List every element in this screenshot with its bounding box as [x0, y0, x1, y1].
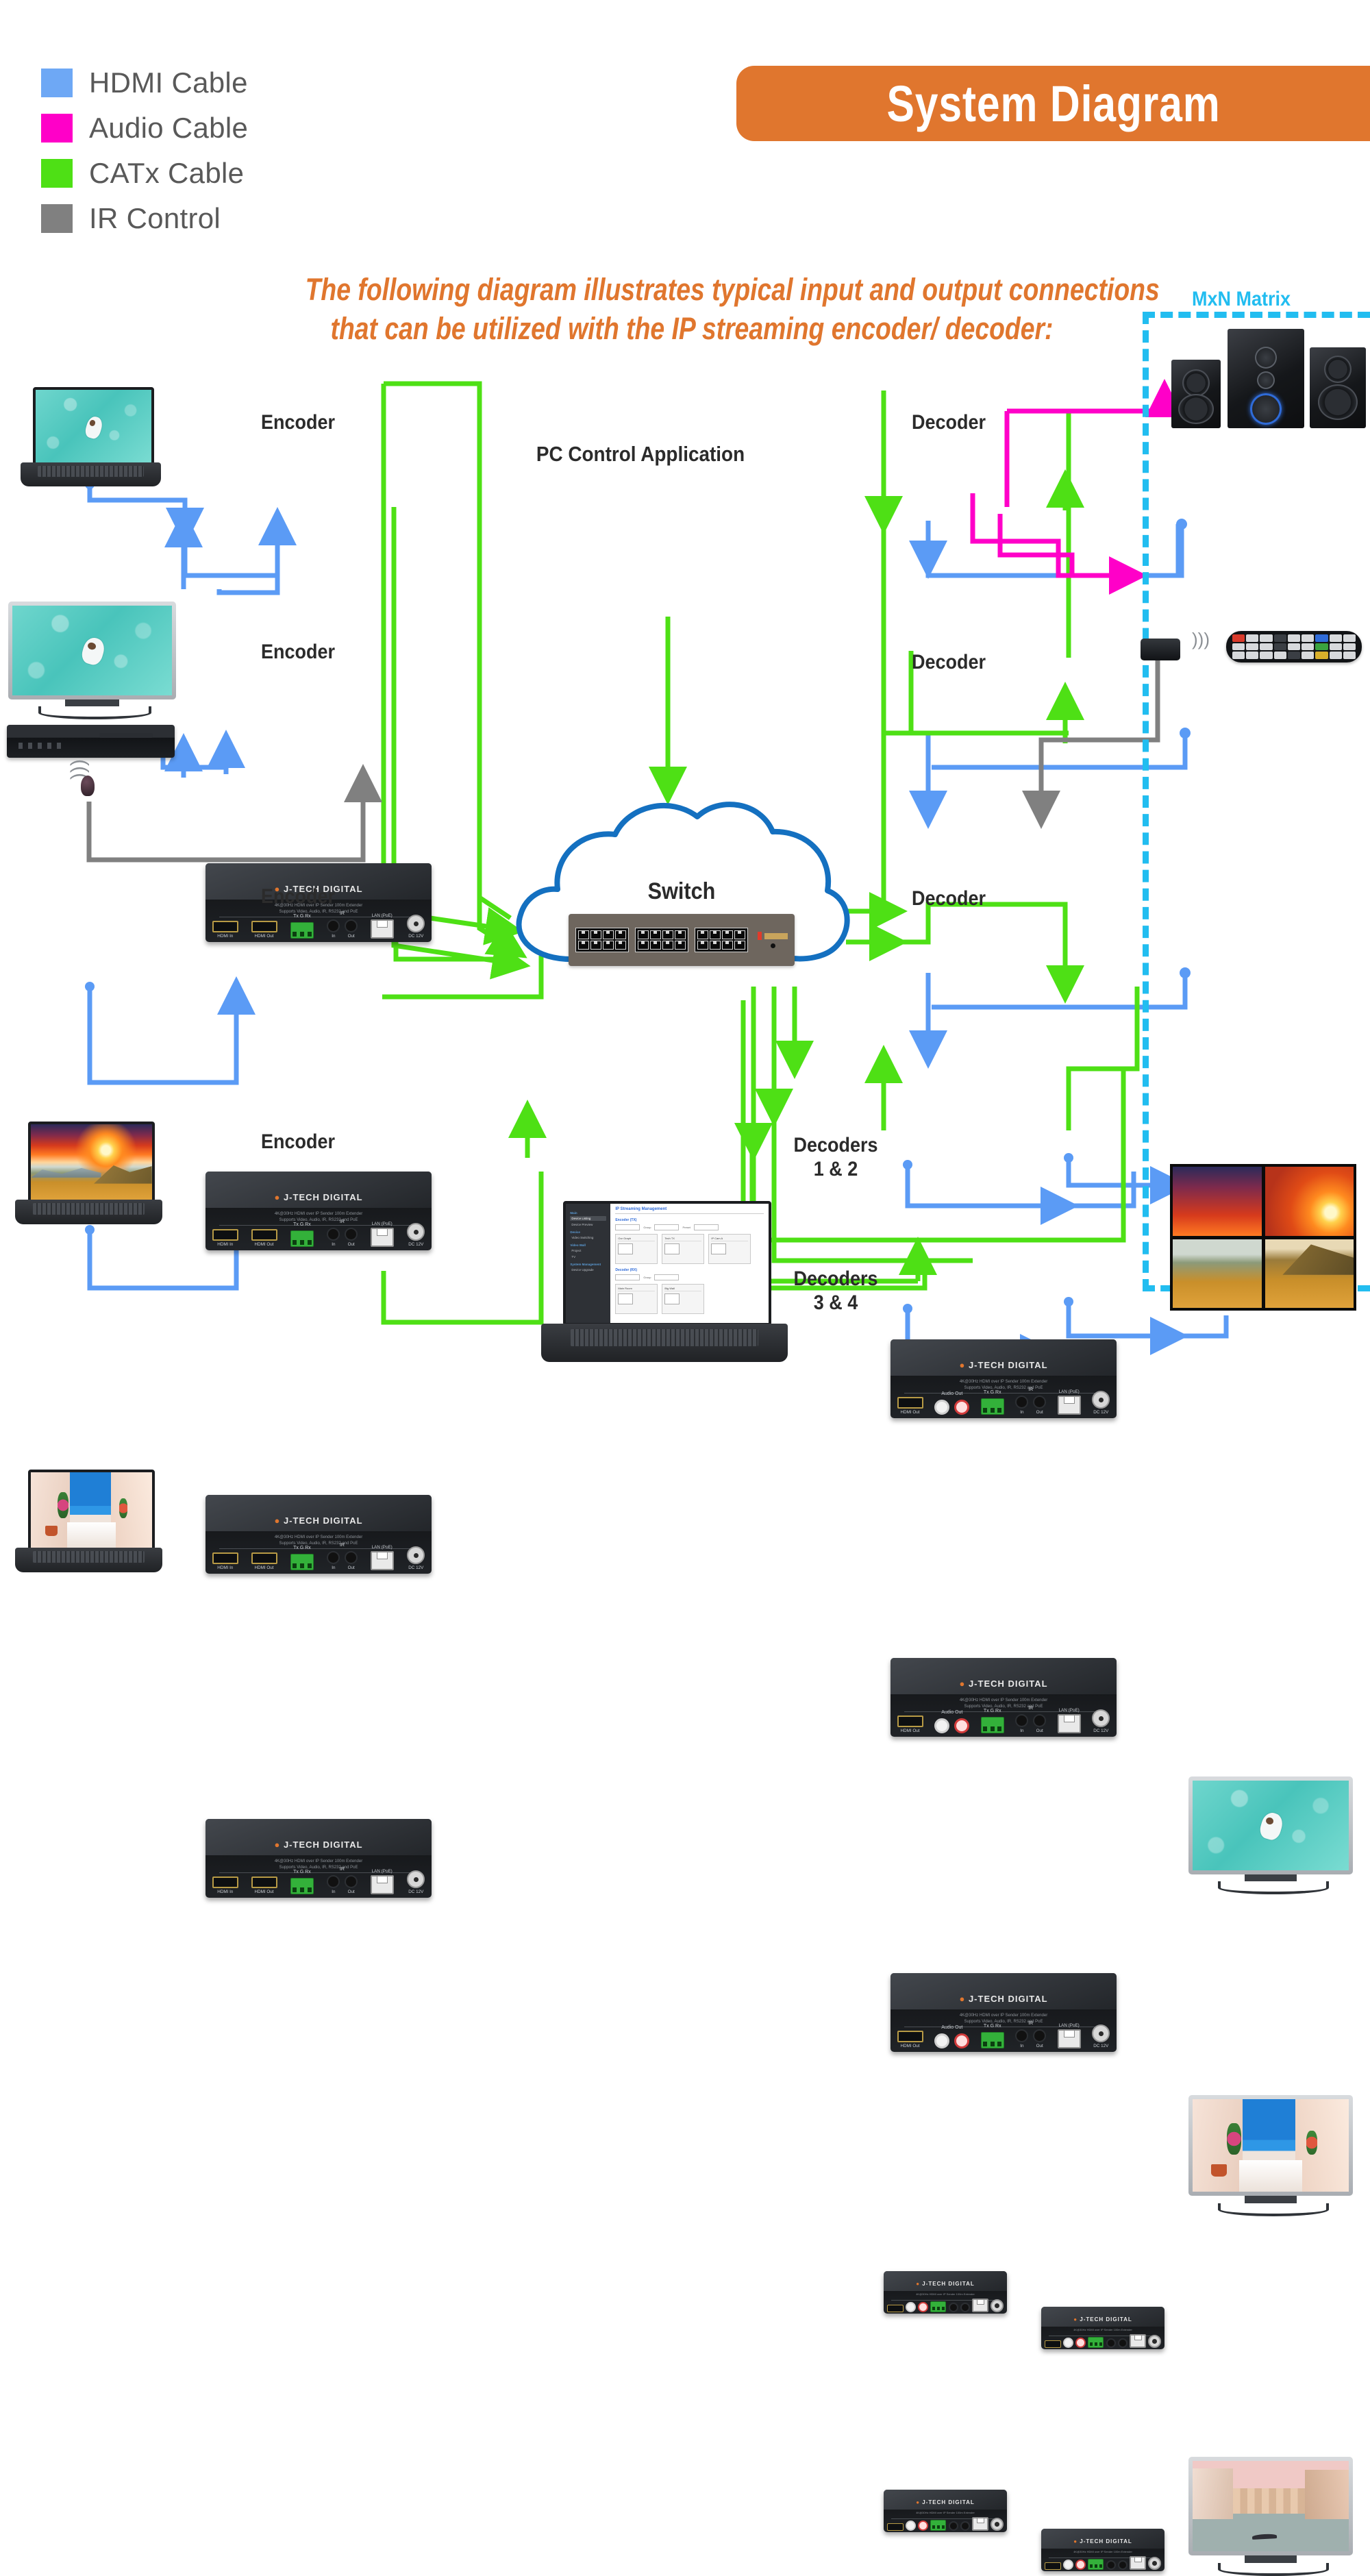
rca-right-jack-icon[interactable] — [918, 2302, 928, 2312]
card-thumbnail — [618, 1293, 633, 1304]
dc-jack-icon — [407, 1546, 425, 1564]
pc-control-laptop: Main Device Listing Device Preview Devic… — [541, 1201, 788, 1362]
hdmi-port-icon[interactable] — [1045, 2562, 1061, 2570]
sidebar-item-project[interactable]: Project — [570, 1248, 606, 1253]
network-switch[interactable] — [569, 914, 795, 966]
encoder-preset-select[interactable] — [694, 1224, 719, 1230]
power-knob-icon[interactable] — [1250, 393, 1282, 425]
port-ir-out[interactable]: Out — [345, 1228, 358, 1247]
sidebar-group-header-system: System Management — [570, 1263, 606, 1266]
tv-image-paddleboard — [1193, 1781, 1349, 1870]
terminal-block-icon — [290, 1554, 314, 1570]
brand-logo: ● J-TECH DIGITAL — [206, 1192, 432, 1202]
tv-image-venice — [1193, 2461, 1349, 2551]
laptop-2-screen — [28, 1122, 154, 1203]
ir-jack-icon[interactable] — [960, 2521, 970, 2531]
tv-1-foot — [38, 706, 151, 719]
dc-jack-icon — [407, 1870, 425, 1888]
brand-logo: ● J-TECH DIGITAL — [891, 1360, 1117, 1370]
source-tv-1 — [8, 602, 176, 718]
decoder-section: Decoder (RX) Group Main Room Big Wall — [615, 1268, 763, 1314]
ir-jack-icon[interactable] — [949, 2521, 958, 2531]
rj45-port-icon[interactable] — [1130, 2334, 1146, 2348]
brand-logo: ● J-TECH DIGITAL — [891, 1994, 1117, 2004]
dc-jack-icon[interactable] — [991, 2299, 1004, 2312]
port-hdmi-in[interactable]: HDMI In — [212, 1552, 238, 1570]
port-dc[interactable]: DC 12V — [1092, 2024, 1110, 2048]
rca-right-jack-icon[interactable] — [954, 1400, 969, 1415]
decoder-unit-4[interactable]: ● J-TECH DIGITAL 4K@30Hz HDMI over IP Se… — [1041, 2529, 1164, 2571]
subtitle-line-1: The following diagram illustrates typica… — [306, 271, 1079, 310]
ir-jack-icon — [345, 1875, 358, 1888]
encoder-search-input[interactable] — [615, 1224, 640, 1230]
hdmi-port-icon[interactable] — [887, 2523, 904, 2531]
switch-status-leds — [758, 932, 788, 948]
hdmi-port-icon — [251, 1877, 277, 1888]
pc-control-keyboard — [541, 1324, 788, 1362]
app-sidebar[interactable]: Main Device Listing Device Preview Devic… — [566, 1204, 610, 1323]
source-laptop-1 — [21, 387, 161, 486]
port-ir-out[interactable]: Out — [1033, 1396, 1046, 1415]
sidebar-group-header-videowall: Video Wall — [570, 1243, 606, 1247]
port-ir-group: IR In Out — [327, 919, 358, 939]
dc-jack-icon[interactable] — [1148, 2557, 1161, 2570]
port-ir-out[interactable]: Out — [345, 1551, 358, 1570]
legend: HDMI Cable Audio Cable CATx Cable IR Con… — [41, 60, 248, 241]
ir-jack-icon[interactable] — [1106, 2338, 1116, 2348]
sidebar-group-header-device: Device — [570, 1230, 606, 1234]
rj45-port-icon[interactable] — [972, 2517, 988, 2531]
encoder-card[interactable]: Our Graph — [615, 1234, 658, 1264]
port-dc[interactable]: DC 12V — [407, 1546, 425, 1570]
brand-logo: ● J-TECH DIGITAL — [1041, 2538, 1164, 2544]
encoder-preset-label: Preset — [682, 1226, 690, 1229]
card-thumbnail — [618, 1243, 633, 1254]
hdmi-port-icon — [251, 1552, 277, 1564]
port-hdmi-out[interactable]: HDMI Out — [251, 1877, 277, 1894]
source-bluray-player — [7, 725, 175, 758]
ir-emitter-icon — [81, 776, 95, 796]
legend-item-audio: Audio Cable — [41, 106, 248, 151]
encoder-card[interactable]: Tech TX — [662, 1234, 704, 1264]
legend-item-ir: IR Control — [41, 196, 248, 241]
ir-jack-icon — [1033, 1396, 1046, 1409]
tv-image-santorini — [1193, 2099, 1349, 2192]
encoder-2-label: Encoder — [246, 641, 351, 665]
switch-port-bank-1[interactable] — [575, 928, 629, 952]
rca-left-jack-icon[interactable] — [906, 2302, 916, 2312]
catx-color-swatch-icon — [41, 159, 73, 188]
sidebar-item-device-listing[interactable]: Device Listing — [570, 1216, 606, 1221]
legend-label-audio: Audio Cable — [89, 112, 248, 145]
sidebar-item-tv[interactable]: TV — [570, 1254, 606, 1259]
encoder-section-title: Encoder (TX) — [615, 1218, 763, 1222]
rj45-port-icon — [371, 1875, 394, 1894]
switch-port-bank-3[interactable] — [695, 928, 748, 952]
mxn-matrix-label: MxN Matrix — [1192, 288, 1291, 311]
tv-1-stand — [65, 699, 119, 706]
brand-logo: ● J-TECH DIGITAL — [884, 2281, 1007, 2287]
port-ir-group: IR In Out — [1015, 1396, 1046, 1415]
hdmi-port-icon — [212, 1877, 238, 1888]
terminal-block-icon[interactable] — [1088, 2337, 1104, 2348]
subtitle: The following diagram illustrates typica… — [226, 271, 1158, 348]
video-wall-cell-3 — [1173, 1239, 1262, 1309]
tv-1-image-paddleboard — [12, 606, 172, 695]
port-hdmi-in[interactable]: HDMI In — [212, 921, 238, 939]
decoder-1-label: Decoder — [897, 411, 1001, 435]
port-lan[interactable]: LAN (PoE) — [371, 1869, 394, 1894]
ir-jack-icon — [1033, 2029, 1046, 2042]
ir-jack-icon[interactable] — [960, 2303, 970, 2312]
port-ir-group: IR In Out — [327, 1551, 358, 1570]
port-audio-out-group: Audio Out — [934, 1718, 969, 1733]
terminal-block-icon[interactable] — [930, 2520, 946, 2531]
terminal-block-icon — [981, 2032, 1004, 2048]
video-wall-cell-2 — [1265, 1167, 1354, 1236]
switch-port-bank-2[interactable] — [635, 928, 688, 952]
rca-right-jack-icon[interactable] — [1075, 2560, 1086, 2570]
port-lan[interactable]: LAN (PoE) — [371, 1222, 394, 1247]
encoder-1-ports: HDMI In HDMI Out Tx G Rx IR In Out LAN (… — [212, 907, 425, 939]
source-laptop-2 — [15, 1122, 162, 1224]
dc-jack-icon — [1092, 1709, 1110, 1727]
card-thumbnail — [711, 1243, 726, 1254]
port-rs232[interactable]: Tx G Rx — [290, 1878, 314, 1894]
subwoofer — [1228, 329, 1304, 428]
video-wall-cell-4 — [1265, 1239, 1354, 1309]
rca-left-jack-icon[interactable] — [906, 2521, 916, 2531]
rj45-port-icon[interactable] — [972, 2299, 988, 2312]
ir-color-swatch-icon — [41, 204, 73, 233]
decoders-1-2-label: Decoders 1 & 2 — [780, 1134, 891, 1181]
hdmi-port-icon — [897, 1716, 923, 1727]
display-tv-1 — [1188, 1776, 1353, 1893]
volume-knob-icon[interactable] — [1255, 347, 1277, 369]
port-lan[interactable]: LAN (PoE) — [1058, 2023, 1081, 2048]
ip-streaming-management-app[interactable]: Main Device Listing Device Preview Devic… — [566, 1204, 768, 1323]
ir-jack-icon — [1015, 2029, 1028, 2042]
app-window-title: IP Streaming Management — [615, 1207, 763, 1214]
laptop-1-keyboard — [21, 462, 161, 486]
decoder-3[interactable]: ● J-TECH DIGITAL 4K@30Hz HDMI over IP Se… — [891, 1973, 1117, 2052]
port-rs232[interactable]: Tx G Rx — [290, 1554, 314, 1570]
rj45-port-icon[interactable] — [1130, 2556, 1146, 2570]
brand-logo: ● J-TECH DIGITAL — [891, 1679, 1117, 1689]
ir-jack-icon — [345, 1228, 358, 1241]
decoder-card[interactable]: Big Wall — [662, 1284, 704, 1314]
port-audio-out-group: Audio Out — [934, 2033, 969, 2048]
dc-jack-icon — [1092, 1391, 1110, 1409]
legend-label-hdmi: HDMI Cable — [89, 66, 248, 99]
port-hdmi-out[interactable]: HDMI Out — [897, 2031, 923, 2048]
speaker-woofer-icon — [1178, 394, 1214, 424]
port-ir-group: IR In Out — [1015, 1714, 1046, 1733]
rj45-port-icon — [371, 1228, 394, 1247]
encoder-2[interactable]: ● J-TECH DIGITAL 4K@30Hz HDMI over IP Se… — [206, 1172, 432, 1250]
port-rs232[interactable]: Tx G Rx — [981, 2032, 1004, 2048]
ir-jack-icon — [327, 1228, 340, 1241]
dc-jack-icon — [407, 915, 425, 932]
port-dc[interactable]: DC 12V — [1092, 1391, 1110, 1415]
speaker-system — [1164, 329, 1370, 428]
port-ir-in[interactable]: In — [327, 1875, 340, 1894]
rca-left-jack-icon[interactable] — [1063, 2338, 1073, 2348]
rj45-port-icon — [1058, 2029, 1081, 2048]
port-ir-in[interactable]: In — [327, 1228, 340, 1247]
ir-jack-icon — [327, 1551, 340, 1564]
rca-right-jack-icon[interactable] — [1075, 2338, 1086, 2348]
pc-control-screen[interactable]: Main Device Listing Device Preview Devic… — [563, 1201, 771, 1326]
rj45-port-icon — [371, 1551, 394, 1570]
ir-jack-icon — [345, 919, 358, 932]
terminal-block-icon — [981, 1398, 1004, 1415]
port-ir-out[interactable]: Out — [345, 1875, 358, 1894]
terminal-block-icon — [290, 1878, 314, 1894]
rca-left-jack-icon[interactable] — [934, 1718, 949, 1733]
decoder-2-label: Decoder — [897, 651, 1001, 675]
legend-label-ir: IR Control — [89, 202, 221, 235]
ir-jack-icon[interactable] — [1106, 2560, 1116, 2570]
laptop-3-screen — [28, 1470, 154, 1551]
port-ir-in[interactable]: In — [1015, 1396, 1028, 1415]
dc-jack-icon — [407, 1223, 425, 1241]
page-title: System Diagram — [886, 75, 1220, 133]
port-ir-out[interactable]: Out — [1033, 1714, 1046, 1733]
terminal-block-icon[interactable] — [1088, 2559, 1104, 2570]
encoder-section: Encoder (TX) Group Preset Our Graph — [615, 1218, 763, 1264]
port-hdmi-out[interactable]: HDMI Out — [897, 1397, 923, 1415]
port-dc[interactable]: DC 12V — [407, 915, 425, 939]
port-dc[interactable]: DC 12V — [407, 1223, 425, 1247]
display-tv-2 — [1188, 2095, 1353, 2215]
speaker-right — [1310, 347, 1366, 428]
port-dc[interactable]: DC 12V — [1092, 1709, 1110, 1733]
encoder-4[interactable]: ● J-TECH DIGITAL 4K@30Hz HDMI over IP Se… — [206, 1819, 432, 1898]
hdmi-port-icon — [251, 1229, 277, 1241]
encoder-1-label: Encoder — [246, 411, 351, 435]
laptop-2-image-sunset — [31, 1124, 151, 1200]
decoder-filter-select[interactable] — [654, 1274, 679, 1280]
port-lan[interactable]: LAN (PoE) — [371, 913, 394, 939]
video-wall-2x2 — [1170, 1164, 1356, 1311]
port-ir-in[interactable]: In — [1015, 2029, 1028, 2048]
encoder-3[interactable]: ● J-TECH DIGITAL 4K@30Hz HDMI over IP Se… — [206, 1495, 432, 1574]
speaker-left — [1171, 360, 1221, 428]
ir-jack-icon — [345, 1551, 358, 1564]
hdmi-port-icon — [212, 1552, 238, 1564]
hdmi-port-icon — [897, 1397, 923, 1409]
hdmi-color-swatch-icon — [41, 69, 73, 97]
port-ir-group: IR In Out — [1015, 2029, 1046, 2048]
laptop-1-screen — [33, 387, 153, 466]
decoder-filter-label: Group — [643, 1276, 651, 1279]
encoder-3-label: Encoder — [246, 885, 351, 909]
ir-receiver — [1141, 639, 1180, 660]
encoder-4-label: Encoder — [246, 1130, 351, 1154]
terminal-block-icon — [290, 922, 314, 939]
terminal-block-icon[interactable] — [930, 2301, 946, 2312]
port-ir-group: IR In Out — [327, 1228, 358, 1247]
ir-remote-control[interactable] — [1226, 631, 1362, 662]
port-hdmi-out[interactable]: HDMI Out — [897, 1716, 923, 1733]
port-rs232[interactable]: Tx G Rx — [981, 1717, 1004, 1733]
app-main-panel: IP Streaming Management Encoder (TX) Gro… — [610, 1204, 768, 1323]
terminal-block-icon — [290, 1230, 314, 1247]
legend-label-catx: CATx Cable — [89, 157, 244, 190]
title-banner: System Diagram — [736, 66, 1370, 141]
terminal-block-icon — [981, 1717, 1004, 1733]
rca-left-jack-icon[interactable] — [934, 1400, 949, 1415]
source-laptop-3 — [15, 1470, 162, 1572]
decoder-section-title: Decoder (RX) — [615, 1268, 763, 1272]
port-rs232[interactable]: Tx G Rx — [290, 922, 314, 939]
decoder-unit-2[interactable]: ● J-TECH DIGITAL 4K@30Hz HDMI over IP Se… — [1041, 2307, 1164, 2349]
rj45-port-icon — [1058, 1714, 1081, 1733]
ir-jack-icon — [1015, 1396, 1028, 1409]
ir-jack-icon[interactable] — [949, 2303, 958, 2312]
sidebar-item-device-upgrade[interactable]: Device Upgrade — [570, 1267, 606, 1272]
power-led-icon — [758, 932, 762, 940]
port-hdmi-out[interactable]: HDMI Out — [251, 1229, 277, 1247]
ir-jack-icon — [327, 1875, 340, 1888]
bass-knob-icon[interactable] — [1257, 371, 1275, 389]
ir-jack-icon — [1033, 1714, 1046, 1727]
brand-logo: ● J-TECH DIGITAL — [206, 1515, 432, 1526]
ir-jack-icon[interactable] — [1118, 2338, 1128, 2348]
port-ir-out[interactable]: Out — [345, 919, 358, 939]
decoder-card[interactable]: Main Room — [615, 1284, 658, 1314]
video-wall-cell-1 — [1173, 1167, 1262, 1236]
hdmi-port-icon — [212, 1229, 238, 1241]
port-ir-in[interactable]: In — [327, 1551, 340, 1570]
decoder-3-label: Decoder — [897, 887, 1001, 911]
sidebar-item-device-preview[interactable]: Device Preview — [570, 1222, 606, 1227]
hdmi-port-icon[interactable] — [887, 2305, 904, 2312]
mxn-matrix-region — [1143, 312, 1370, 1291]
dc-jack-icon[interactable] — [1148, 2335, 1161, 2348]
port-hdmi-in[interactable]: HDMI In — [212, 1877, 238, 1894]
decoder-unit-3[interactable]: ● J-TECH DIGITAL 4K@30Hz HDMI over IP Se… — [884, 2490, 1007, 2532]
port-rs232[interactable]: Tx G Rx — [290, 1230, 314, 1247]
legend-item-catx: CATx Cable — [41, 151, 248, 196]
port-audio-out-group: Audio Out — [934, 1400, 969, 1415]
brand-logo: ● J-TECH DIGITAL — [206, 1840, 432, 1850]
rj45-port-icon — [1058, 1396, 1081, 1415]
decoder-1[interactable]: ● J-TECH DIGITAL 4K@30Hz HDMI over IP Se… — [891, 1339, 1117, 1418]
laptop-2-keyboard — [15, 1200, 162, 1224]
speaker-woofer-icon — [1318, 384, 1358, 420]
rca-right-jack-icon[interactable] — [918, 2521, 928, 2531]
port-ir-in[interactable]: In — [327, 919, 340, 939]
ir-jack-icon[interactable] — [1118, 2560, 1128, 2570]
port-hdmi-out[interactable]: HDMI Out — [251, 921, 277, 939]
ir-jack-icon — [327, 919, 340, 932]
brand-logo: ● J-TECH DIGITAL — [1041, 2316, 1164, 2323]
encoder-card[interactable]: IP Cam A — [708, 1234, 751, 1264]
reset-button-icon[interactable] — [771, 943, 775, 948]
card-thumbnail — [664, 1243, 680, 1254]
status-bar-icon — [764, 933, 788, 939]
ir-jack-icon — [1015, 1714, 1028, 1727]
legend-item-hdmi: HDMI Cable — [41, 60, 248, 106]
laptop-3-keyboard — [15, 1548, 162, 1572]
audio-color-swatch-icon — [41, 114, 73, 143]
decoder-unit-1[interactable]: ● J-TECH DIGITAL 4K@30Hz HDMI over IP Se… — [884, 2271, 1007, 2314]
brand-logo: ● J-TECH DIGITAL — [884, 2499, 1007, 2505]
laptop-3-image-santorini — [31, 1472, 151, 1548]
port-hdmi-in[interactable]: HDMI In — [212, 1229, 238, 1247]
pc-control-application-label: PC Control Application — [521, 442, 761, 467]
laptop-1-image-paddleboard — [36, 390, 151, 463]
hdmi-port-icon — [212, 921, 238, 932]
port-rs232[interactable]: Tx G Rx — [981, 1398, 1004, 1415]
dc-jack-icon — [1092, 2024, 1110, 2042]
rj45-port-icon — [371, 919, 394, 939]
decoders-3-4-label: Decoders 3 & 4 — [780, 1267, 891, 1315]
rca-left-jack-icon[interactable] — [934, 2033, 949, 2048]
card-thumbnail — [664, 1293, 680, 1304]
sidebar-item-video-switching[interactable]: Video Switching — [570, 1235, 606, 1240]
speaker-tweeter-icon — [1324, 356, 1352, 383]
rca-left-jack-icon[interactable] — [1063, 2560, 1073, 2570]
port-lan[interactable]: LAN (PoE) — [1058, 1708, 1081, 1733]
port-ir-group: IR In Out — [327, 1875, 358, 1894]
speaker-tweeter-icon — [1182, 369, 1210, 397]
display-tv-3 — [1188, 2457, 1353, 2575]
sidebar-group-header-main: Main — [570, 1211, 606, 1215]
ir-signal-waves-icon: ))) — [1192, 630, 1210, 648]
tv-1-bezel — [8, 602, 176, 699]
dc-jack-icon[interactable] — [991, 2518, 1004, 2531]
port-ir-in[interactable]: In — [1015, 1714, 1028, 1733]
rca-right-jack-icon[interactable] — [954, 2033, 969, 2048]
hdmi-port-icon[interactable] — [1045, 2340, 1061, 2348]
bluray-buttons — [18, 743, 62, 749]
encoder-filter-select[interactable] — [654, 1224, 679, 1230]
port-dc[interactable]: DC 12V — [407, 1870, 425, 1894]
subtitle-line-2: that can be utilized with the IP streami… — [306, 310, 1079, 349]
hdmi-port-icon — [897, 2031, 923, 2042]
remote-power-button[interactable] — [1232, 634, 1245, 642]
port-lan[interactable]: LAN (PoE) — [1058, 1389, 1081, 1415]
port-hdmi-out[interactable]: HDMI Out — [251, 1552, 277, 1570]
port-ir-out[interactable]: Out — [1033, 2029, 1046, 2048]
rca-right-jack-icon[interactable] — [954, 1718, 969, 1733]
encoder-filter-label: Group — [643, 1226, 651, 1229]
decoder-2[interactable]: ● J-TECH DIGITAL 4K@30Hz HDMI over IP Se… — [891, 1658, 1117, 1737]
port-lan[interactable]: LAN (PoE) — [371, 1545, 394, 1570]
hdmi-port-icon — [251, 921, 277, 932]
decoder-search-input[interactable] — [615, 1274, 640, 1280]
